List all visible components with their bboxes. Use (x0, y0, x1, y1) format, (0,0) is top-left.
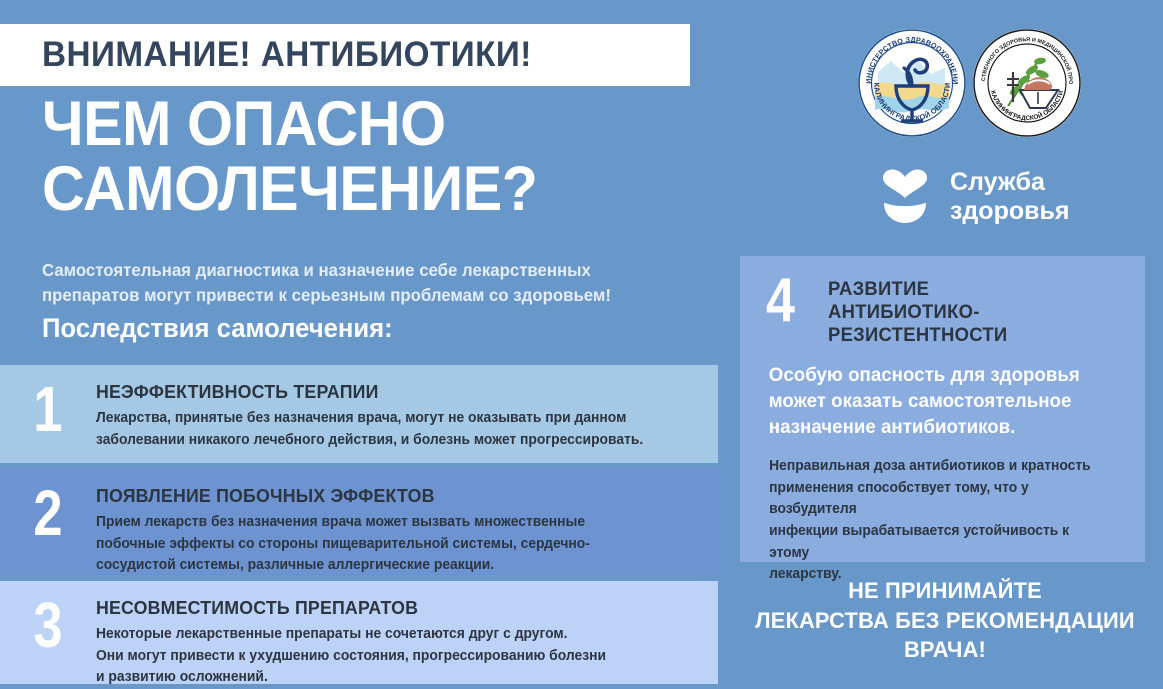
attention-banner: ВНИМАНИЕ! АНТИБИОТИКИ! (0, 24, 690, 86)
consequence-number: 1 (9, 365, 88, 441)
health-service-logo: Служба здоровья (878, 168, 1069, 225)
intro-paragraph: Самостоятельная диагностика и назначение… (42, 258, 695, 308)
antibiotic-resistance-card: 4 РАЗВИТИЕ АНТИБИОТИКО- РЕЗИСТЕНТНОСТИ О… (740, 256, 1145, 562)
emblem-group: МИНИСТЕРСТВО ЗДРАВООХРАНЕНИЯ КАЛИНИНГРАД… (857, 28, 1107, 140)
consequence-row: 1 НЕЭФФЕКТИВНОСТЬ ТЕРАПИИ Лекарства, при… (0, 365, 718, 463)
consequence-description: Прием лекарств без назначения врача може… (96, 512, 590, 577)
attention-banner-text: ВНИМАНИЕ! АНТИБИОТИКИ! (42, 35, 532, 75)
resistance-body-text: Неправильная доза антибиотиков и кратнос… (740, 440, 1133, 586)
consequence-number: 2 (9, 469, 88, 545)
consequence-title: РАЗВИТИЕ АНТИБИОТИКО- РЕЗИСТЕНТНОСТИ (828, 274, 1007, 348)
page-title: ЧЕМ ОПАСНО САМОЛЕЧЕНИЕ? (42, 92, 662, 222)
consequence-description: Некоторые лекарственные препараты не соч… (96, 624, 606, 689)
consequence-title: НЕЭФФЕКТИВНОСТЬ ТЕРАПИИ (96, 381, 638, 403)
section-heading: Последствия самолечения: (42, 313, 393, 344)
call-to-action-text: НЕ ПРИНИМАЙТЕ ЛЕКАРСТВА БЕЗ РЕКОМЕНДАЦИИ… (741, 576, 1148, 665)
public-health-center-kaliningrad-emblem: ЦЕНТР ОБЩЕСТВЕННОГО ЗДОРОВЬЯ И МЕДИЦИНСК… (972, 28, 1082, 138)
consequence-title: НЕСОВМЕСТИМОСТЬ ПРЕПАРАТОВ (96, 597, 601, 619)
consequence-title: ПОЯВЛЕНИЕ ПОБОЧНЫХ ЭФФЕКТОВ (96, 485, 585, 507)
consequence-row: 2 ПОЯВЛЕНИЕ ПОБОЧНЫХ ЭФФЕКТОВ Прием лека… (0, 469, 718, 575)
health-service-label: Служба здоровья (950, 168, 1069, 225)
consequence-number: 4 (766, 274, 818, 329)
consequence-description: Лекарства, принятые без назначения врача… (96, 408, 643, 451)
consequence-number: 3 (9, 581, 88, 657)
resistance-lead-text: Особую опасность для здоровья может оказ… (740, 348, 1129, 440)
heart-smile-icon (878, 169, 932, 225)
consequence-row: 3 НЕСОВМЕСТИМОСТЬ ПРЕПАРАТОВ Некоторые л… (0, 581, 718, 684)
ministry-of-health-kaliningrad-emblem: МИНИСТЕРСТВО ЗДРАВООХРАНЕНИЯ КАЛИНИНГРАД… (857, 28, 967, 138)
